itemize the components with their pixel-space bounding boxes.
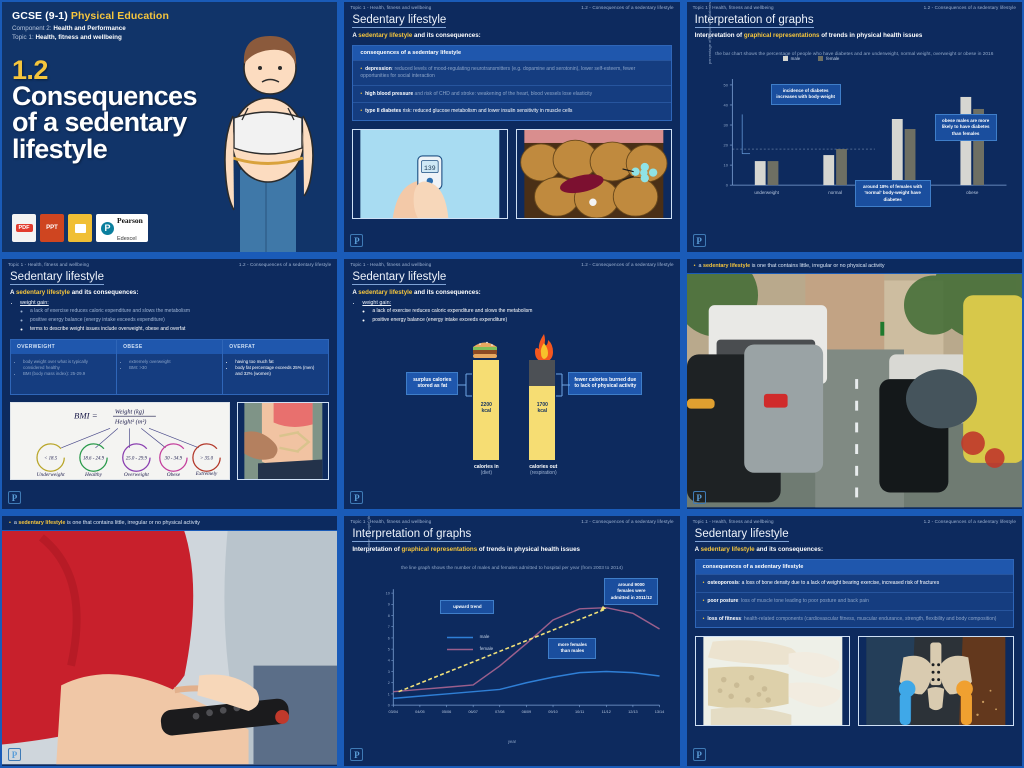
traffic-jam-image [687,259,1022,509]
svg-text:06/07: 06/07 [469,710,479,714]
svg-text:Extremely: Extremely [195,471,218,477]
slide-subheading: Interpretation of graphical representati… [352,546,679,553]
slide-header: Topic 1 - Health, fitness and wellbeing … [687,2,1022,10]
bar-normal-female [836,149,847,185]
glucose-meter-image: 139 [352,129,508,219]
format-icons: PDF PPT P Pearson Edexcel [12,214,148,242]
line-series-male [394,672,660,699]
slide-header: Topic 1 - Health, fitness and wellbeing … [344,516,679,524]
svg-text:30 - 34.9: 30 - 34.9 [165,457,183,462]
svg-text:25.0 - 29.9: 25.0 - 29.9 [126,457,148,462]
slide-traffic-photo[interactable]: •a sedentary lifestyle is one that conta… [685,257,1024,511]
bmi-row: BMI = Weight (kg) Height² (m²) < 18.5 Un… [10,402,329,480]
bullet-list: weight gain: a lack of exercise reduces … [358,300,679,324]
surplus-calories-tip: surplus calories stored as fat [406,372,458,396]
ppt-icon[interactable]: PPT [40,214,64,242]
svg-text:03/04: 03/04 [389,710,399,714]
left-bracket-icon [458,372,474,398]
annotation-more-females: more females than males [548,638,596,659]
svg-text:1: 1 [388,692,390,696]
image-row [695,636,1014,726]
flame-icon [532,334,556,362]
caption-bar: •a sedentary lifestyle is one that conta… [2,516,337,531]
list-item: positive energy balance (energy intake e… [372,317,679,324]
consequences-box: consequences of a sedentary lifestyle •d… [352,45,671,121]
brand-name: Pearson [117,216,143,225]
energy-balance-diagram: 2200kcal 1700kcal surplus calories store… [344,330,679,480]
legend-male: male [783,56,801,61]
header-left: Topic 1 - Health, fitness and wellbeing [350,5,431,10]
fewer-calories-tip: fewer calories burned due to lack of phy… [568,372,642,396]
svg-text:30: 30 [723,123,728,128]
image-row: 139 [352,129,671,219]
svg-text:Obese: Obese [167,472,181,478]
svg-text:Underweight: Underweight [37,472,65,478]
pearson-logo-icon: P [693,234,706,247]
pearson-logo-icon: P [8,491,21,504]
pearson-edexcel-logo: P Pearson Edexcel [96,214,148,242]
svg-text:2: 2 [388,681,390,685]
svg-text:13/14: 13/14 [655,710,665,714]
table-cell: having too much fat body fat percentage … [223,354,328,394]
deficit-block [529,360,555,386]
bullet-list: weight gain: a lack of exercise reduces … [16,300,337,332]
annotation-1: incidence of diabetes increases with bod… [771,84,841,105]
svg-text:6: 6 [388,636,390,640]
svg-text:8: 8 [388,614,390,618]
slide-line-chart[interactable]: Topic 1 - Health, fitness and wellbeing … [342,514,681,768]
box-header: consequences of a sedentary lifestyle [353,46,670,60]
list-item: a lack of exercise reduces caloric expen… [372,308,679,315]
bar-underweight-male [754,161,765,185]
burger-icon [471,338,499,360]
slide-subheading: A sedentary lifestyle and its consequenc… [352,32,679,39]
hip-bone-scan-image [858,636,1014,726]
line-series-female [394,608,660,692]
pearson-logo-icon: P [8,748,21,761]
consequences-box: consequences of a sedentary lifestyle •o… [695,559,1014,628]
bar-obese-male [960,97,971,185]
svg-text:underweight: underweight [754,190,779,195]
slide-heading: Sedentary lifestyle [695,528,789,542]
svg-text:< 18.5: < 18.5 [44,457,58,462]
table-cell: body weight over what is typically consi… [11,354,116,394]
slide-heading: Sedentary lifestyle [352,14,446,28]
table-row: •type II diabetes risk: reduced glucose … [353,102,670,120]
column-header: OVERWEIGHT [11,340,116,354]
course-prefix: GCSE (9-1) [12,10,71,22]
y-axis-label: percentage of people with diabetes [707,0,712,78]
bmi-diagram: BMI = Weight (kg) Height² (m²) < 18.5 Un… [10,402,230,480]
slide-header: Topic 1 - Health, fitness and wellbeing … [344,259,679,267]
slide-subheading: A sedentary lifestyle and its consequenc… [352,289,679,296]
overweight-person-illustration [200,20,335,252]
topic-value: Health, fitness and wellbeing [35,34,121,41]
svg-text:3: 3 [388,670,390,674]
svg-text:normal: normal [828,190,842,195]
caption-bar: •a sedentary lifestyle is one that conta… [687,259,1022,274]
insulin-receptor-image [516,129,672,219]
course-subject: Physical Education [71,10,169,22]
table-row: •poor posture: loss of muscle tone leadi… [696,592,1013,610]
table-row: •loss of fitness: health-related compone… [696,610,1013,628]
bar-chart: 01020304050underweightnormaloverweightob… [695,62,1014,212]
table-row: •depression: reduced levels of mood-regu… [353,60,670,85]
legend-female: female [447,646,493,651]
slide-subheading: A sedentary lifestyle and its consequenc… [10,289,337,296]
calories-out-label: calories out (respiration) [514,464,572,476]
y-axis-label: number of people (thousands) [366,514,371,586]
annotation-9000-females: around 9000 females were admitted in 201… [604,578,658,605]
slide-header: Topic 1 - Health, fitness and wellbeing … [687,516,1022,524]
slide-calorie-balance[interactable]: Topic 1 - Health, fitness and wellbeing … [342,257,681,511]
table-row: •high blood pressure and risk of CHD and… [353,85,670,103]
svg-text:Height² (m²): Height² (m²) [114,419,146,426]
calories-out-bar [529,386,555,460]
slide-header: Topic 1 - Health, fitness and wellbeing … [2,259,337,267]
slide-subheading: A sedentary lifestyle and its consequenc… [695,546,1022,553]
list-item: weight gain: a lack of exercise reduces … [20,300,337,332]
slide-weight-gain-table[interactable]: Topic 1 - Health, fitness and wellbeing … [0,257,339,511]
table-column-overfat: OVERFAT having too much fat body fat per… [223,340,328,394]
list-item: a lack of exercise reduces caloric expen… [30,308,337,315]
column-header: OVERFAT [223,340,328,354]
slide-title[interactable]: GCSE (9-1) Physical Education Component … [0,0,339,254]
slide-bar-chart[interactable]: Topic 1 - Health, fitness and wellbeing … [685,0,1024,254]
component-value: Health and Performance [53,25,125,32]
calories-in-label: calories in (diet) [460,464,512,476]
list-item: positive energy balance (energy intake e… [30,317,337,324]
pearson-logo-icon: P [693,748,706,761]
title-text: Consequences of a sedentary lifestyle [12,81,197,163]
right-bracket-icon [554,372,570,398]
calories-out-value: 1700kcal [529,402,555,414]
bar-normal-male [823,155,834,185]
bar-underweight-female [767,161,778,185]
svg-text:05/06: 05/06 [442,710,452,714]
annotation-upward-trend: upward trend [440,600,494,614]
pearson-logo-icon: P [350,491,363,504]
svg-text:04/05: 04/05 [415,710,425,714]
brand-sub: Edexcel [117,236,137,242]
bar-overweight-male [892,119,903,185]
x-axis-label: year [352,739,671,744]
pearson-logo-icon: P [350,748,363,761]
header-right: 1.2 - Consequences of a sedentary lifest… [581,5,673,10]
annotation-3: around 18% of females with 'normal' body… [855,180,931,207]
svg-text:12/13: 12/13 [628,710,638,714]
svg-text:9: 9 [388,603,390,607]
bar-overweight-female [904,129,915,185]
svg-text:07/08: 07/08 [495,710,505,714]
slide-heading: Sedentary lifestyle [10,271,104,285]
svg-text:50: 50 [723,83,728,88]
svg-text:7: 7 [388,625,390,629]
svg-text:40: 40 [723,103,728,108]
topic-label: Topic 1: [12,34,34,41]
svg-text:10/11: 10/11 [575,710,584,714]
svg-text:> 35.0: > 35.0 [200,457,214,462]
list-item: terms to describe weight issues include … [30,326,337,333]
line-chart: 01234567891003/0404/0505/0606/0707/0808/… [352,576,671,736]
tv-remote-image [2,516,337,766]
svg-text:10: 10 [723,163,728,168]
svg-text:18.6 - 24.9: 18.6 - 24.9 [83,457,105,462]
svg-text:20: 20 [723,143,728,148]
chart-title: the bar chart shows the percentage of pe… [687,51,1022,58]
svg-text:4: 4 [388,659,390,663]
slide-heading: Sedentary lifestyle [352,271,446,285]
svg-text:0: 0 [388,704,390,708]
svg-text:Overweight: Overweight [124,472,149,478]
table-cell: extremely overweight BMI: >30 [117,354,222,394]
legend-female: female [818,56,839,61]
list-item: weight gain: a lack of exercise reduces … [362,300,679,324]
annotation-2: obese males are more likely to have diab… [935,114,997,141]
chart-legend: male female [783,56,840,61]
google-slides-icon[interactable] [68,214,92,242]
svg-text:08/09: 08/09 [522,710,532,714]
svg-text:09/10: 09/10 [549,710,559,714]
pearson-logo-icon: P [693,491,706,504]
svg-text:11/12: 11/12 [602,710,611,714]
calories-in-value: 2200kcal [473,402,499,414]
pearson-mark-icon: P [101,222,114,235]
svg-text:5: 5 [388,648,390,652]
table-column-overweight: OVERWEIGHT body weight over what is typi… [11,340,117,394]
svg-text:0: 0 [725,183,728,188]
svg-text:10: 10 [386,592,390,596]
column-header: OBESE [117,340,222,354]
weight-terms-table: OVERWEIGHT body weight over what is typi… [10,339,329,395]
body-fat-caliper-image [237,402,330,480]
slide-grid: GCSE (9-1) Physical Education Component … [0,0,1024,768]
osteoporosis-vertebrae-image [695,636,851,726]
table-column-obese: OBESE extremely overweight BMI: >30 [117,340,223,394]
bmi-formula-lhs: BMI = [74,411,98,421]
svg-text:Weight (kg): Weight (kg) [115,409,144,416]
slide-heading: Interpretation of graphs [695,14,814,28]
slide-consequences-2[interactable]: Topic 1 - Health, fitness and wellbeing … [685,514,1024,768]
slide-header: Topic 1 - Health, fitness and wellbeing … [344,2,679,10]
chart-title: the line graph shows the number of males… [344,565,679,572]
component-label: Component 2: [12,25,52,32]
pdf-icon[interactable]: PDF [12,214,36,242]
slide-remote-photo[interactable]: •a sedentary lifestyle is one that conta… [0,514,339,768]
legend-male: male [447,634,489,639]
page-title: 1.2 Consequences of a sedentary lifestyl… [12,57,222,162]
slide-consequences-1[interactable]: Topic 1 - Health, fitness and wellbeing … [342,0,681,254]
box-header: consequences of a sedentary lifestyle [696,560,1013,574]
pearson-logo-icon: P [350,234,363,247]
svg-text:Healthy: Healthy [84,472,103,478]
svg-text:139: 139 [424,165,436,172]
slide-subheading: Interpretation of graphical representati… [695,32,1022,39]
svg-text:obese: obese [966,190,979,195]
table-row: •osteoporosis: a loss of bone density du… [696,574,1013,592]
